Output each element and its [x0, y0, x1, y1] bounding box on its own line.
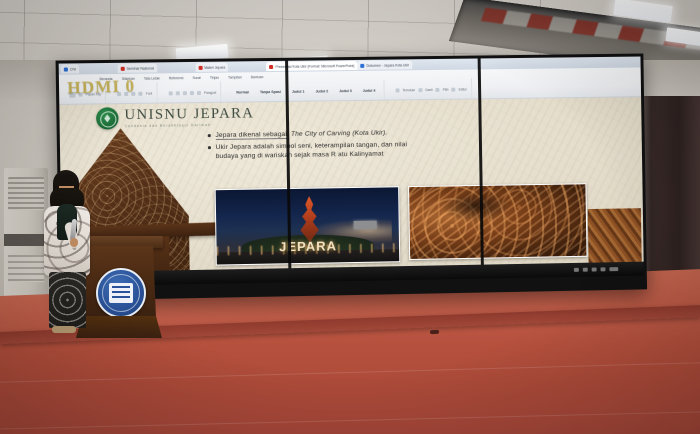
red-slide-icon: [198, 65, 202, 69]
red-slide-icon: [269, 64, 273, 68]
sensor-icon: [609, 267, 618, 271]
presenter-shoe: [52, 326, 76, 333]
jepara-monument-photo: JEPARA: [215, 186, 401, 265]
ribbon-group-editing[interactable]: Temukan Ganti Pilih Editor: [391, 78, 472, 100]
replace-label: Ganti: [425, 87, 433, 91]
find-icon[interactable]: [395, 88, 399, 92]
editor-label: Editor: [459, 87, 467, 91]
bullet-list-icon[interactable]: [168, 91, 172, 95]
bullet-dot-icon: [208, 147, 211, 150]
ribbon-tab[interactable]: Surat: [193, 75, 201, 79]
align-left-icon[interactable]: [183, 91, 187, 95]
status-led-icon: [600, 267, 605, 271]
status-led-group: [574, 267, 618, 272]
floor-marker: [430, 330, 439, 334]
hdmi-input-overlay: HDMI 0: [67, 76, 136, 98]
red-slide-icon: [121, 66, 125, 70]
blue-page-icon: [64, 67, 68, 71]
bullet-lead-text: Jepara dikenal sebagai:: [215, 131, 289, 140]
browser-tab[interactable]: Dokumen - Jepara Kota Ukir: [357, 60, 412, 70]
brand-name: UNISNU JEPARA: [124, 106, 254, 122]
ribbon-tab[interactable]: Tata Letak: [144, 76, 160, 80]
university-seal: [96, 268, 146, 318]
font-color-icon[interactable]: [139, 91, 143, 95]
slide-brand-header: UNISNU JEPARA Cendekia dan Berakhlaqul K…: [96, 105, 254, 129]
ribbon-tab[interactable]: Bantuan: [251, 75, 264, 79]
status-led-icon: [592, 267, 597, 271]
group-label: Paragraf: [204, 90, 216, 94]
list-item: Ukir Jepara adalah simbol seni, keteramp…: [208, 137, 621, 161]
unisnu-logo-icon: [96, 107, 119, 129]
presenter: [40, 170, 94, 335]
browser-tab[interactable]: Materi Jepara: [195, 63, 228, 72]
wood-carving-photo: [408, 183, 587, 260]
blue-page-icon: [360, 63, 364, 67]
bullet-line-2: budaya yang di wariskan sejak masa R atu…: [216, 151, 384, 161]
tab-label: Materi Jepara: [204, 65, 225, 69]
browser-tab[interactable]: Seminar Nasional: [117, 63, 156, 73]
ribbon-tab[interactable]: Referensi: [169, 76, 184, 80]
select-label: Pilih: [443, 87, 449, 91]
style-heading-3[interactable]: Judul 3: [335, 88, 356, 92]
replace-icon[interactable]: [418, 88, 422, 92]
align-center-icon[interactable]: [190, 91, 194, 95]
ribbon-tab[interactable]: Tinjau: [210, 75, 219, 79]
ac-vent-icon: [8, 177, 43, 210]
slide-bullet-list: Jepara dikenal sebagai: The City of Carv…: [208, 125, 621, 164]
style-heading-2[interactable]: Judul 2: [312, 89, 333, 93]
tab-label: CNI: [70, 67, 76, 71]
style-heading-4[interactable]: Judul 4: [359, 88, 380, 92]
presenter-skirt: [49, 272, 86, 328]
browser-tab[interactable]: CNI: [61, 64, 79, 73]
seal-emblem-icon: [109, 283, 133, 303]
number-list-icon[interactable]: [176, 91, 180, 95]
power-led-icon: [574, 268, 579, 272]
style-heading-1[interactable]: Judul 1: [288, 89, 309, 93]
status-led-icon: [583, 268, 588, 272]
style-normal[interactable]: Normal: [232, 90, 253, 94]
bullet-emphasis-text: The City of Carving (Kota Ukir).: [291, 130, 388, 138]
ribbon-group-paragraph[interactable]: Paragraf: [164, 82, 221, 104]
presentation-photo-scene: CNI Seminar Nasional Materi Jepara Prese…: [0, 0, 700, 434]
style-no-spacing[interactable]: Tanpa Spasi: [256, 89, 285, 93]
ribbon-tab[interactable]: Tampilan: [228, 75, 242, 79]
line-spacing-icon[interactable]: [197, 90, 201, 94]
tab-label: Dokumen - Jepara Kota Ukir: [366, 63, 409, 68]
tab-label: Seminar Nasional: [127, 66, 154, 70]
bullet-dot-icon: [208, 134, 211, 137]
browser-tab-active[interactable]: Presentasi Kota Ukir (Format: Microsoft …: [266, 61, 357, 71]
editor-icon[interactable]: [452, 87, 456, 91]
presenter-hair-front: [55, 175, 78, 186]
presenter-hand: [70, 238, 78, 247]
find-label: Temukan: [402, 88, 415, 92]
brand-tagline: Cendekia dan Berakhlaqul Karimah: [125, 122, 255, 128]
photo-billboard: [353, 220, 377, 229]
ribbon-group-styles[interactable]: Normal Tanpa Spasi Judul 1 Judul 2 Judul…: [228, 80, 384, 103]
ac-vent-icon: [8, 255, 43, 282]
carving-shadow: [441, 190, 512, 223]
group-label: Font: [146, 91, 153, 95]
select-icon[interactable]: [436, 87, 440, 91]
